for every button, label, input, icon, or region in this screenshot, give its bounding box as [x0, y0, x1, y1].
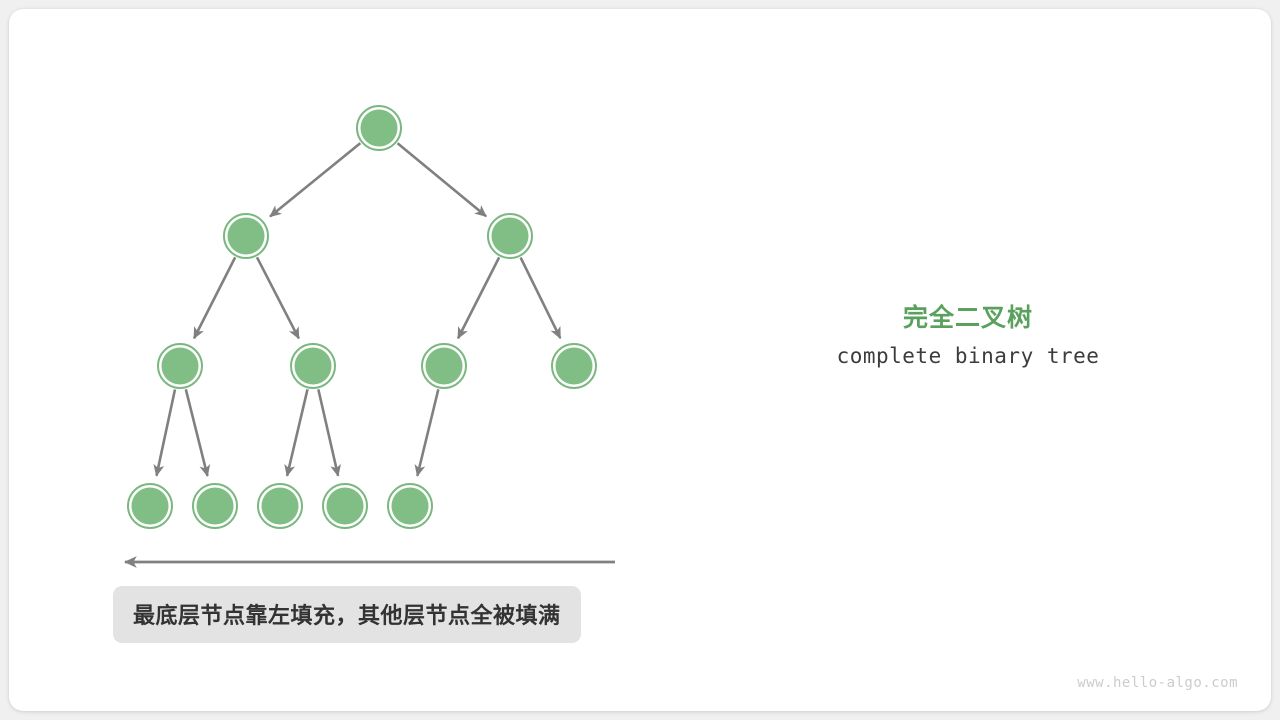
node-core — [295, 348, 332, 385]
page-title: 完全二叉树 — [758, 298, 1178, 334]
tree-node — [258, 484, 302, 528]
tree-node — [291, 344, 335, 388]
tree-node — [388, 484, 432, 528]
node-core — [392, 488, 429, 525]
tree-node — [552, 344, 596, 388]
node-core — [327, 488, 364, 525]
tree-node — [488, 214, 532, 258]
tree-node — [158, 344, 202, 388]
tree-node — [224, 214, 268, 258]
tree-edges — [156, 143, 560, 476]
tree-edge — [270, 143, 360, 216]
node-core — [262, 488, 299, 525]
node-core — [492, 218, 529, 255]
tree-edge — [186, 389, 208, 476]
tree-edge — [257, 257, 299, 338]
node-core — [426, 348, 463, 385]
tree-edge — [521, 258, 561, 339]
node-core — [228, 218, 265, 255]
node-core — [556, 348, 593, 385]
tree-edge — [417, 389, 438, 476]
tree-nodes — [128, 106, 596, 528]
watermark: www.hello-algo.com — [1077, 675, 1238, 691]
node-core — [162, 348, 199, 385]
tree-edge — [398, 143, 487, 216]
node-core — [197, 488, 234, 525]
tree-edge — [156, 389, 174, 475]
tree-edge — [318, 389, 338, 475]
tree-node — [128, 484, 172, 528]
tree-node — [193, 484, 237, 528]
tree-node — [323, 484, 367, 528]
tree-node — [422, 344, 466, 388]
tree-edge — [458, 257, 499, 338]
tree-edge — [287, 389, 307, 475]
tree-node — [357, 106, 401, 150]
caption-badge: 最底层节点靠左填充，其他层节点全被填满 — [113, 586, 581, 643]
node-core — [132, 488, 169, 525]
tree-edge — [194, 257, 235, 338]
diagram-canvas: 完全二叉树 complete binary tree 最底层节点靠左填充，其他层… — [0, 0, 1280, 720]
page-subtitle: complete binary tree — [758, 344, 1178, 368]
node-core — [361, 110, 398, 147]
